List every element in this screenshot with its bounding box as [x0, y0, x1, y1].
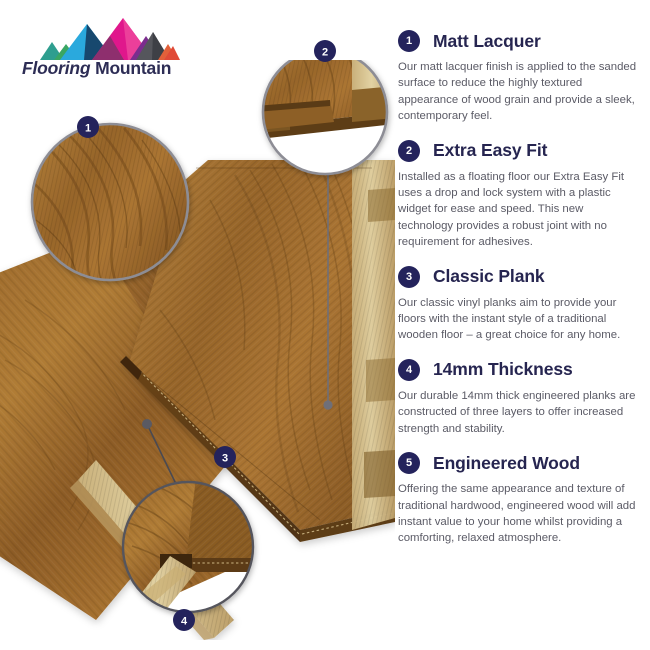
callout-circle-2: [255, 60, 395, 174]
svg-text:3: 3: [222, 453, 228, 465]
feature-body-4: Our durable 14mm thick engineered planks…: [398, 388, 638, 437]
feature-header: 2 Extra Easy Fit: [398, 138, 644, 164]
feature-title-5: Engineered Wood: [433, 453, 580, 474]
mountain-range-icon: [40, 18, 180, 62]
feature-item-1[interactable]: 1 Matt Lacquer Our matt lacquer finish i…: [398, 28, 644, 125]
feature-item-2[interactable]: 2 Extra Easy Fit Installed as a floating…: [398, 138, 644, 251]
photo-badge-2-overlay[interactable]: 2: [312, 38, 338, 64]
feature-badge-1: 1: [398, 30, 420, 52]
feature-header: 4 14mm Thickness: [398, 357, 644, 383]
engineered-wood-plank-photo: 1 2 3 4: [0, 60, 395, 640]
feature-title-3: Classic Plank: [433, 266, 545, 287]
feature-header: 3 Classic Plank: [398, 264, 644, 290]
feature-badge-5: 5: [398, 452, 420, 474]
photo-badge-3[interactable]: 3: [214, 446, 236, 468]
feature-body-2: Installed as a floating floor our Extra …: [398, 169, 638, 251]
feature-body-3: Our classic vinyl planks aim to provide …: [398, 295, 638, 344]
svg-text:1: 1: [85, 123, 91, 135]
feature-header: 5 Engineered Wood: [398, 450, 644, 476]
photo-badge-4[interactable]: 4: [173, 609, 195, 631]
infographic-page: Flooring Mountain: [0, 0, 650, 650]
feature-header: 1 Matt Lacquer: [398, 28, 644, 54]
photo-badge-1[interactable]: 1: [77, 116, 99, 138]
feature-body-1: Our matt lacquer finish is applied to th…: [398, 59, 638, 125]
feature-body-5: Offering the same appearance and texture…: [398, 481, 638, 547]
svg-text:2: 2: [322, 47, 328, 59]
feature-badge-2: 2: [398, 140, 420, 162]
feature-title-1: Matt Lacquer: [433, 31, 541, 52]
feature-badge-3: 3: [398, 266, 420, 288]
feature-badge-4: 4: [398, 359, 420, 381]
feature-title-4: 14mm Thickness: [433, 359, 573, 380]
feature-title-2: Extra Easy Fit: [433, 140, 547, 161]
feature-list: 1 Matt Lacquer Our matt lacquer finish i…: [398, 28, 644, 547]
feature-item-3[interactable]: 3 Classic Plank Our classic vinyl planks…: [398, 264, 644, 344]
feature-item-4[interactable]: 4 14mm Thickness Our durable 14mm thick …: [398, 357, 644, 437]
svg-text:4: 4: [181, 616, 188, 628]
feature-item-5[interactable]: 5 Engineered Wood Offering the same appe…: [398, 450, 644, 547]
